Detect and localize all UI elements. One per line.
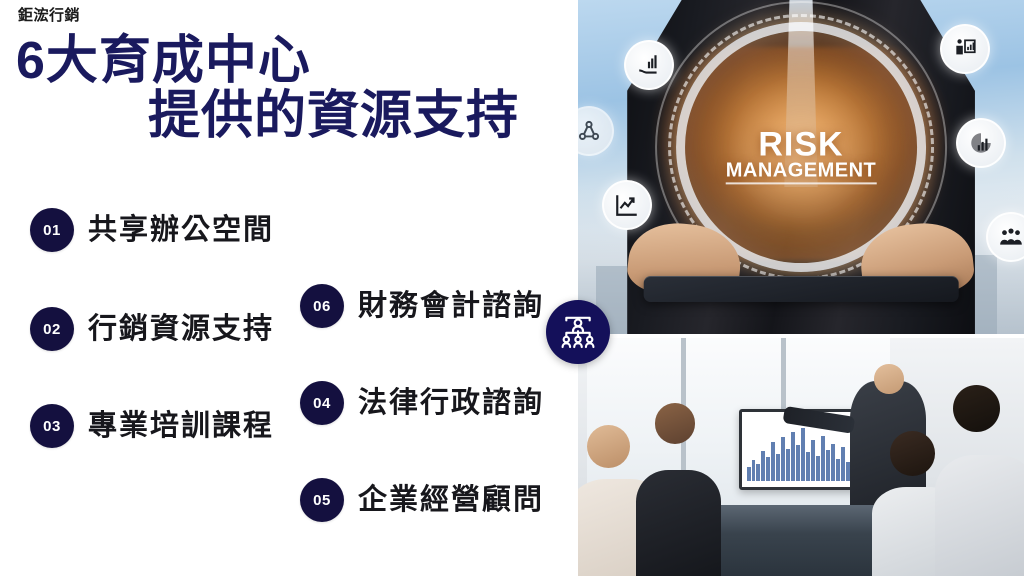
list-item-label: 專業培訓課程 xyxy=(88,412,274,441)
brand-logo-text: 鉅浤行銷 xyxy=(18,8,80,23)
list-item-03[interactable]: 03 專業培訓課程 xyxy=(30,404,274,448)
number-badge: 04 xyxy=(300,381,344,425)
list-item-05[interactable]: 05 企業經營顧問 xyxy=(300,478,544,522)
photo-risk-management: RISK MANAGEMENT xyxy=(578,0,1024,334)
presenter-board-icon xyxy=(940,24,990,74)
badge-number: 06 xyxy=(313,299,331,314)
risk-management-label: RISK MANAGEMENT xyxy=(726,129,877,184)
line-chart-arrow-icon xyxy=(602,180,652,230)
pie-bar-chart-icon xyxy=(956,118,1006,168)
list-item-01[interactable]: 01 共享辦公空間 xyxy=(30,208,274,252)
attendee-right-2 xyxy=(935,381,1024,576)
badge-number: 02 xyxy=(43,322,61,337)
number-badge: 06 xyxy=(300,284,344,328)
list-item-06[interactable]: 06 財務會計諮詢 xyxy=(300,284,544,328)
number-badge: 03 xyxy=(30,404,74,448)
attendee-left-2 xyxy=(636,400,721,576)
list-item-label: 企業經營顧問 xyxy=(358,486,544,515)
badge-number: 01 xyxy=(43,223,61,238)
list-item-label: 法律行政諮詢 xyxy=(358,389,544,418)
hud-management-text: MANAGEMENT xyxy=(726,161,877,185)
presenter-head xyxy=(874,364,903,393)
slide-root: 鉅浤行銷 6大育成中心 提供的資源支持 01 共享辦公空間 02 行銷資源支持 … xyxy=(0,0,1024,576)
title-line-1: 6大育成中心 xyxy=(16,34,580,89)
number-badge: 01 xyxy=(30,208,74,252)
photo-team-meeting xyxy=(578,338,1024,576)
number-badge: 02 xyxy=(30,307,74,351)
list-item-label: 財務會計諮詢 xyxy=(358,292,544,321)
tablet-device xyxy=(644,276,959,302)
hand-bar-chart-icon xyxy=(624,40,674,90)
page-title: 6大育成中心 提供的資源支持 xyxy=(0,34,580,144)
list-item-02[interactable]: 02 行銷資源支持 xyxy=(30,307,274,351)
organization-chart-icon xyxy=(546,300,610,364)
list-item-label: 共享辦公空間 xyxy=(88,216,274,245)
title-line-2: 提供的資源支持 xyxy=(148,89,580,144)
photo-column: RISK MANAGEMENT xyxy=(578,0,1024,576)
number-badge: 05 xyxy=(300,478,344,522)
list-item-04[interactable]: 04 法律行政諮詢 xyxy=(300,381,544,425)
badge-number: 05 xyxy=(313,493,331,508)
left-content-panel: 鉅浤行銷 6大育成中心 提供的資源支持 01 共享辦公空間 02 行銷資源支持 … xyxy=(0,0,580,576)
list-item-label: 行銷資源支持 xyxy=(88,315,274,344)
hands-holding-tablet xyxy=(614,214,989,314)
badge-number: 03 xyxy=(43,419,61,434)
hud-risk-text: RISK xyxy=(726,129,877,160)
badge-number: 04 xyxy=(313,396,331,411)
